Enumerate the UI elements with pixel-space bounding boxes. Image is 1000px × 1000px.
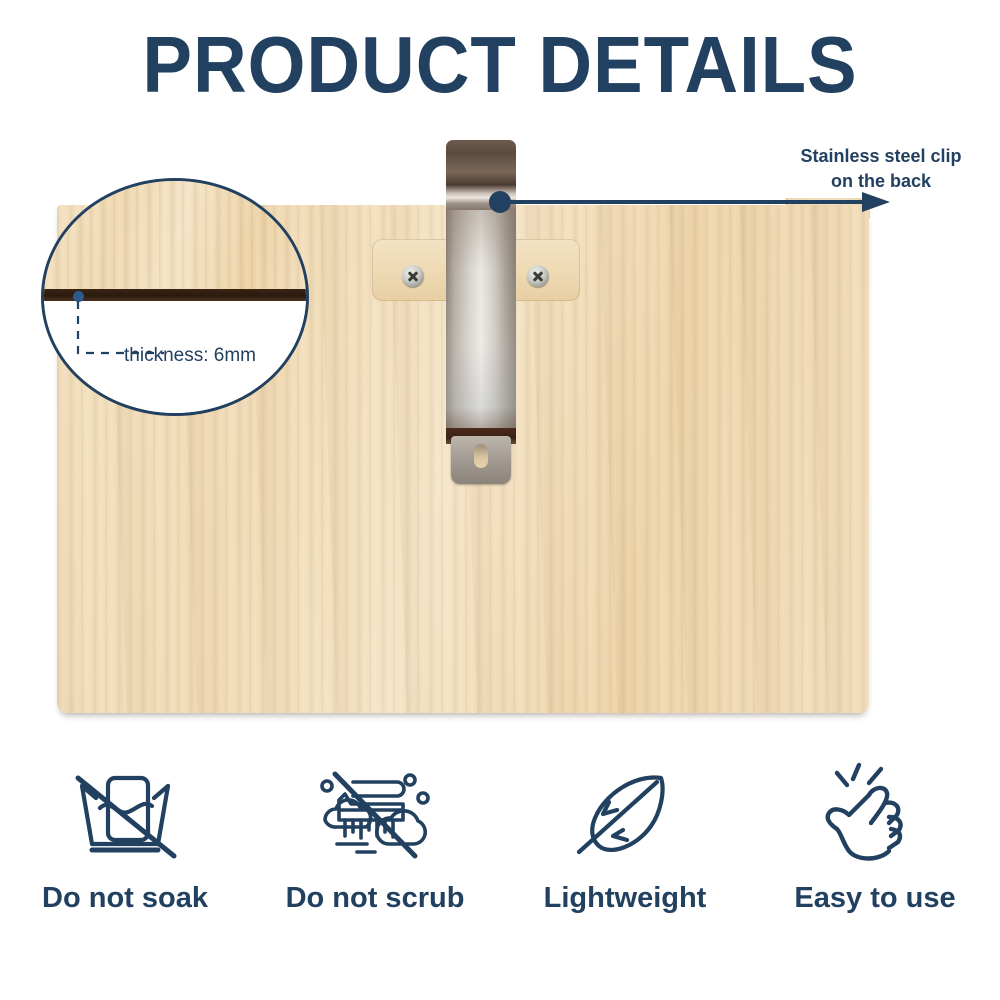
phillips-screw-right-icon [527, 265, 549, 287]
callout-line-1: Stainless steel clip [770, 144, 992, 169]
do-not-scrub-icon [305, 760, 445, 870]
callout-line-2: on the back [770, 169, 992, 194]
feather-icon [565, 760, 685, 870]
clip-body [446, 210, 516, 440]
thickness-leader-line [44, 181, 309, 416]
callout-text: Stainless steel clip on the back [770, 144, 992, 194]
product-image-area: thickness: 6mm Stainless steel clip on t… [0, 0, 1000, 760]
phillips-screw-left-icon [402, 265, 424, 287]
arrow-right-icon [862, 192, 890, 212]
thickness-label: thickness: 6mm [124, 345, 256, 367]
feature-row: Do not soak [0, 760, 1000, 940]
do-not-soak-icon [60, 760, 190, 870]
tapping-hand-icon [815, 760, 935, 870]
feature-label: Easy to use [794, 882, 955, 915]
feature-label: Do not soak [42, 882, 208, 915]
feature-label: Lightweight [544, 882, 707, 915]
infographic-page: PRODUCT DETAILS [0, 0, 1000, 1000]
feature-do-not-scrub: Do not scrub [250, 760, 500, 915]
feature-label: Do not scrub [286, 882, 465, 915]
feature-lightweight: Lightweight [500, 760, 750, 915]
thickness-magnifier [41, 178, 309, 416]
feature-do-not-soak: Do not soak [0, 760, 250, 915]
feature-easy-to-use: Easy to use [750, 760, 1000, 915]
clip-foot-hole [474, 444, 488, 468]
clip-foot-tab [451, 436, 511, 484]
